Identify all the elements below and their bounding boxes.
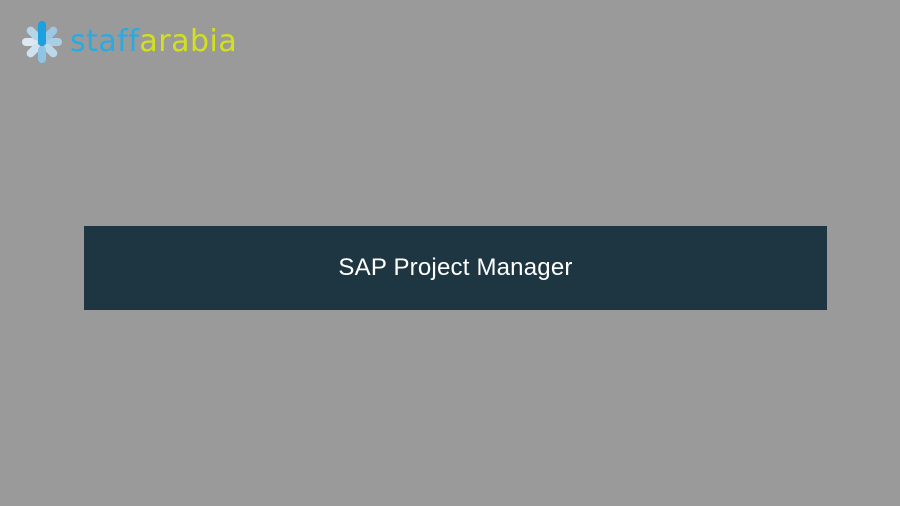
brand-wordmark: staffarabia: [70, 27, 237, 57]
brand-logo[interactable]: staffarabia: [20, 18, 280, 66]
brand-wordmark-secondary: arabia: [139, 24, 237, 59]
title-banner: SAP Project Manager: [84, 226, 827, 310]
page-title: SAP Project Manager: [338, 254, 572, 283]
snowflake-icon: [20, 20, 64, 64]
brand-wordmark-primary: staff: [70, 24, 139, 59]
slide-canvas: staffarabia SAP Project Manager: [0, 0, 900, 506]
